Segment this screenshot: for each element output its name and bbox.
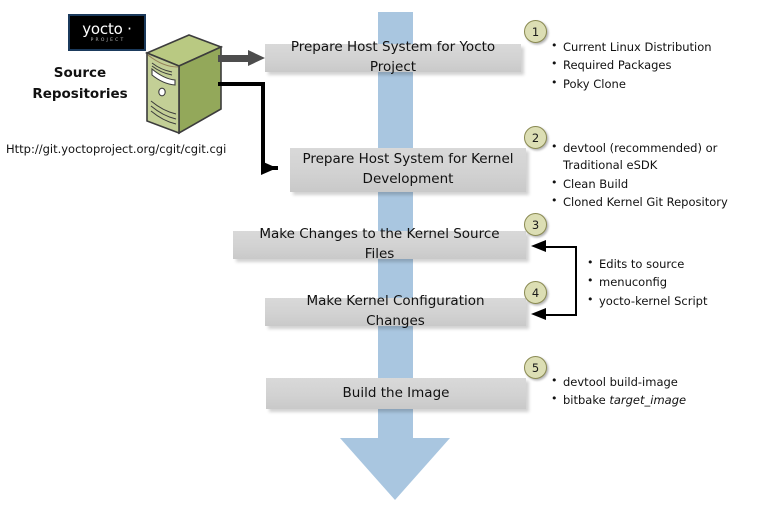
process-box-step-2[interactable]: Prepare Host System for Kernel Developme… (290, 148, 526, 192)
list-item: Current Linux Distribution (551, 39, 761, 56)
bracket-vertical-segment (575, 246, 577, 316)
bracket-arrowhead-step3-icon (531, 240, 546, 252)
process-box-step-3[interactable]: Make Changes to the Kernel Source Files (233, 231, 526, 259)
list-item: menuconfig (587, 274, 757, 291)
bracket-arrowhead-step4-icon (531, 308, 546, 320)
diagram-canvas: yocto · PROJECT Source Repositories Http… (0, 0, 769, 517)
list-item: Clean Build (551, 176, 763, 193)
connector-source-to-step2-segment-top (218, 82, 265, 86)
list-item: Required Packages (551, 57, 761, 74)
source-label-line-1: Source (18, 63, 142, 84)
list-item: Edits to source (587, 256, 757, 273)
step-number-badge-4: 4 (524, 281, 547, 304)
connector-source-to-step1 (218, 55, 250, 62)
list-item: devtool build-image (551, 374, 751, 391)
source-repositories-label: Source Repositories (18, 63, 142, 105)
connector-source-to-step1-arrowhead-icon (248, 50, 265, 66)
notes-step-2: devtool (recommended) or Traditional eSD… (551, 140, 763, 212)
list-item: Cloned Kernel Git Repository (551, 194, 763, 211)
process-box-step-5[interactable]: Build the Image (266, 378, 526, 409)
notes-step-5: devtool build-image bitbake target_image (551, 374, 751, 411)
step-number-badge-5: 5 (524, 356, 547, 379)
source-label-line-2: Repositories (18, 84, 142, 105)
list-item: bitbake target_image (551, 392, 751, 409)
notes-steps-3-and-4: Edits to source menuconfig yocto-kernel … (587, 256, 757, 311)
step-number-badge-3: 3 (524, 213, 547, 236)
process-box-step-4[interactable]: Make Kernel Configuration Changes (265, 298, 526, 326)
yocto-logo-subword: PROJECT (91, 39, 126, 44)
bracket-branch-to-step4 (546, 314, 576, 316)
flow-arrowhead-icon (340, 438, 450, 500)
process-box-step-1[interactable]: Prepare Host System for Yocto Project (265, 44, 521, 72)
bitbake-target-argument: target_image (609, 393, 686, 407)
yocto-logo-word: yocto · (82, 22, 132, 37)
server-tower-icon (131, 33, 223, 137)
step-number-badge-2: 2 (524, 126, 547, 149)
source-repository-url: Http://git.yoctoproject.org/cgit/cgit.cg… (6, 142, 226, 156)
step-number-badge-1: 1 (524, 20, 547, 43)
list-item: devtool (recommended) or Traditional eSD… (551, 140, 763, 175)
notes-step-1: Current Linux Distribution Required Pack… (551, 39, 761, 94)
connector-source-to-step2-segment-vertical (261, 82, 265, 170)
connector-source-to-step2-arrowhead-icon (261, 161, 277, 175)
list-item: Poky Clone (551, 76, 761, 93)
bracket-branch-to-step3 (546, 246, 576, 248)
list-item: yocto-kernel Script (587, 293, 757, 310)
bitbake-command: bitbake (563, 393, 609, 407)
